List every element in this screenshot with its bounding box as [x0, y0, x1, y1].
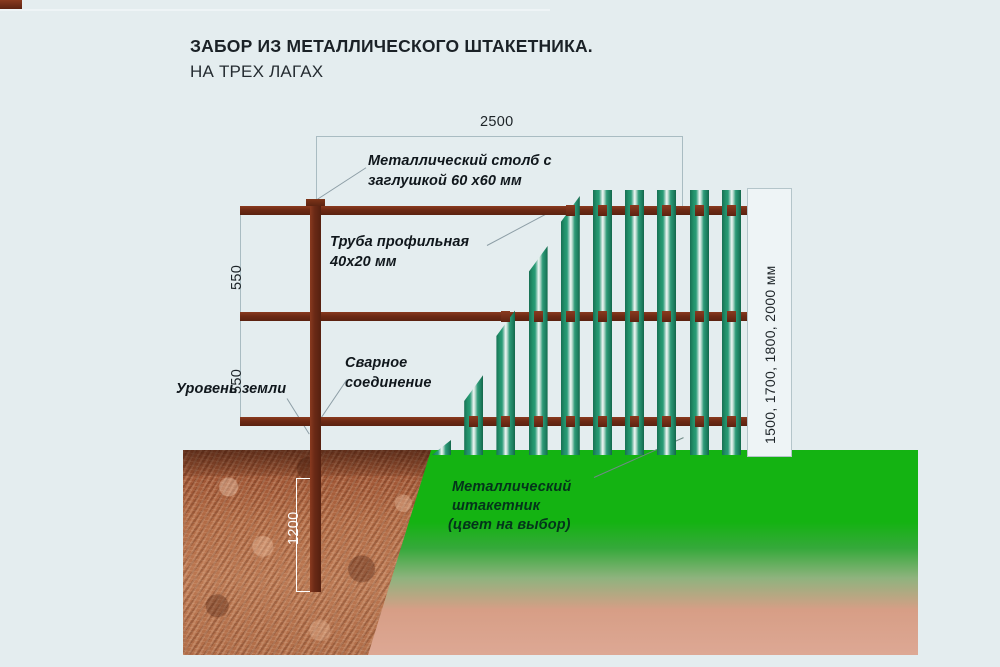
- picket-clip: [662, 205, 671, 216]
- callout-ground-level: Уровень земли: [176, 380, 286, 399]
- dim-2500-left-tick: [316, 136, 317, 204]
- callout-rail-line1: Труба профильная: [330, 233, 469, 252]
- fence-assembly: [0, 0, 1000, 667]
- callout-picket-line2: штакетник: [452, 497, 540, 516]
- picket-clip: [534, 311, 543, 322]
- picket-clip: [662, 311, 671, 322]
- picket: [496, 310, 515, 455]
- picket-clip: [598, 416, 607, 427]
- dim-2500-right-tick: [682, 136, 683, 206]
- picket-clip: [727, 205, 736, 216]
- picket: [464, 375, 483, 455]
- callout-post-line1: Металлический столб с: [368, 152, 552, 171]
- fence-post: [310, 204, 321, 592]
- picket-clip: [630, 311, 639, 322]
- callout-picket-line3: (цвет на выбор): [448, 516, 571, 535]
- picket-face: [496, 310, 515, 455]
- picket-clip: [695, 416, 704, 427]
- dim-1200-label: 1200: [286, 512, 302, 545]
- picket-clip: [727, 416, 736, 427]
- dim-2500-label: 2500: [480, 114, 513, 130]
- picket-clip: [566, 205, 575, 216]
- picket-clip: [727, 311, 736, 322]
- picket-clip: [662, 416, 671, 427]
- picket-clip: [469, 416, 478, 427]
- picket-clip: [630, 416, 639, 427]
- callout-rail-line2: 40х20 мм: [330, 253, 397, 272]
- callout-picket-line1: Металлический: [452, 478, 571, 497]
- picket-clip: [598, 205, 607, 216]
- dim-550-upper-label: 550: [229, 265, 245, 290]
- picket-clip: [598, 311, 607, 322]
- picket-clip: [695, 205, 704, 216]
- fence-diagram: ЗАБОР ИЗ МЕТАЛЛИЧЕСКОГО ШТАКЕТНИКА. НА Т…: [0, 0, 1000, 667]
- callout-weld-line2: соединение: [345, 374, 432, 393]
- dim-height-label: 1500, 1700, 1800, 2000 мм: [762, 265, 778, 444]
- ground-line: [0, 9, 550, 11]
- dim-2500-line: [316, 136, 683, 137]
- picket-clip: [501, 416, 510, 427]
- picket: [432, 440, 451, 455]
- post-base-marker: [0, 0, 22, 9]
- callout-post-line2: заглушкой 60 х60 мм: [368, 172, 522, 191]
- picket-clip: [501, 311, 510, 322]
- picket-clip: [695, 311, 704, 322]
- callout-weld-line1: Сварное: [345, 354, 407, 373]
- picket-clip: [534, 416, 543, 427]
- post-cap: [306, 199, 325, 206]
- picket-clip: [566, 416, 575, 427]
- picket-clip: [566, 311, 575, 322]
- picket-face: [464, 375, 483, 455]
- picket-face: [432, 440, 451, 455]
- picket-clip: [630, 205, 639, 216]
